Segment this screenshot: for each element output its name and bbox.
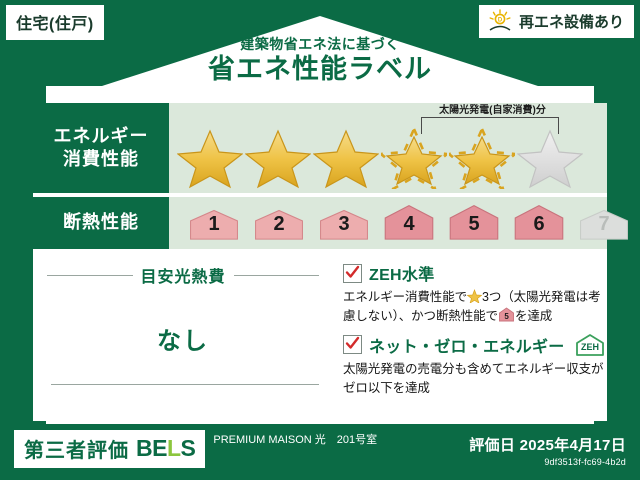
insulation-level-3: 3 xyxy=(313,207,375,240)
label-heading: 建築物省エネ法に基づく 省エネ性能ラベル xyxy=(0,36,640,85)
star-4-solar xyxy=(381,127,447,189)
bels-text-l: L xyxy=(167,435,181,461)
cert-net-zero-label: ネット・ゼロ・エネルギー xyxy=(369,333,565,357)
svg-text:ZEH: ZEH xyxy=(581,342,599,352)
label-card: エネルギー 消費性能 太陽光発電(自家消費)分 xyxy=(33,103,607,421)
utility-cost-bottom-rule xyxy=(51,384,319,385)
bels-text-be: BE xyxy=(136,435,167,461)
cert-net-zero-title-row: ネット・ゼロ・エネルギー ZEH xyxy=(343,333,608,357)
building-type-tag: 住宅(住戸) xyxy=(6,5,104,40)
insulation-level-3-label: 3 xyxy=(313,213,375,236)
insulation-level-7-label: 7 xyxy=(573,213,635,236)
cert-zeh-level-title-row: ZEH水準 xyxy=(343,261,608,285)
renewable-equipment-badge: D 再エネ設備あり xyxy=(479,5,634,38)
building-name: PREMIUM MAISON 光 201号室 xyxy=(213,434,423,448)
utility-cost-panel: 目安光熱費 なし xyxy=(33,253,333,421)
insulation-level-2-label: 2 xyxy=(248,213,310,236)
insulation-level-5: 5 xyxy=(443,203,505,240)
energy-performance-label: 住宅(住戸) D 再エネ設備あり 建築物省エネ法に基づく 省エネ性能ラベル xyxy=(0,0,640,480)
evaluation-id: 9df3513f-fc69-4b2d xyxy=(469,457,626,467)
solar-sun-icon: D xyxy=(487,9,513,33)
renewable-badge-label: 再エネ設備あり xyxy=(519,11,624,32)
insulation-level-7: 7 xyxy=(573,207,635,240)
utility-cost-title: 目安光熱費 xyxy=(141,263,226,287)
insulation-level-4: 4 xyxy=(378,203,440,240)
bels-text-s: S xyxy=(181,435,196,461)
insulation-row-title: 断熱性能 xyxy=(33,197,169,249)
insulation-level-1: 1 xyxy=(183,207,245,240)
evaluation-date: 評価日 2025年4月17日 xyxy=(469,434,626,455)
energy-title-line1: エネルギー xyxy=(54,126,149,146)
certification-panel: ZEH水準 エネルギー消費性能で3つ（太陽光発電は考慮しない）、かつ断熱性能で5… xyxy=(333,253,616,421)
energy-row-title: エネルギー 消費性能 xyxy=(33,103,169,193)
inline-star-icon xyxy=(467,289,482,303)
insulation-level-2: 2 xyxy=(248,207,310,240)
insulation-level-6-label: 6 xyxy=(508,213,570,236)
heading-title: 省エネ性能ラベル xyxy=(0,54,640,85)
insulation-performance-row: 断熱性能 1 2 3 xyxy=(33,197,607,249)
rule-left xyxy=(47,275,133,276)
cert-item-zeh-level: ZEH水準 エネルギー消費性能で3つ（太陽光発電は考慮しない）、かつ断熱性能で5… xyxy=(343,261,608,327)
cert-desc-part-1: エネルギー消費性能で xyxy=(343,290,467,304)
footer-bar: 第三者評価 BELS PREMIUM MAISON 光 201号室 評価日 20… xyxy=(0,424,640,480)
cert-zeh-level-desc: エネルギー消費性能で3つ（太陽光発電は考慮しない）、かつ断熱性能で5を達成 xyxy=(343,288,608,327)
inline-house-level-icon: 5 xyxy=(498,307,515,322)
cert-desc-part-3: を達成 xyxy=(515,309,552,323)
svg-text:5: 5 xyxy=(504,312,509,321)
insulation-level-4-label: 4 xyxy=(378,213,440,236)
solar-bracket-label: 太陽光発電(自家消費)分 xyxy=(405,101,580,116)
zeh-logo-icon: ZEH xyxy=(574,333,608,357)
star-2 xyxy=(245,127,311,189)
star-rating xyxy=(177,127,583,189)
star-5-solar xyxy=(449,127,515,189)
svg-text:D: D xyxy=(498,18,503,24)
insulation-levels: 1 2 3 4 5 xyxy=(183,203,635,240)
energy-title-line2: 消費性能 xyxy=(63,149,139,169)
star-1 xyxy=(177,127,243,189)
star-6-empty xyxy=(517,127,583,189)
insulation-level-1-label: 1 xyxy=(183,213,245,236)
insulation-row-body: 1 2 3 4 5 xyxy=(169,197,607,249)
cert-net-zero-desc: 太陽光発電の売電分も含めてエネルギー収支がゼロ以下を達成 xyxy=(343,360,608,399)
checkbox-checked-icon-2 xyxy=(343,335,362,354)
checkbox-checked-icon xyxy=(343,264,362,283)
energy-row-body: 太陽光発電(自家消費)分 xyxy=(169,103,607,193)
cert-zeh-level-label: ZEH水準 xyxy=(369,261,435,285)
bels-wordmark: BELS xyxy=(136,435,195,462)
rule-right xyxy=(234,275,320,276)
third-party-evaluation-label: 第三者評価 xyxy=(24,434,129,463)
energy-performance-row: エネルギー 消費性能 太陽光発電(自家消費)分 xyxy=(33,103,607,193)
insulation-level-5-label: 5 xyxy=(443,213,505,236)
lower-section: 目安光熱費 なし ZEH水準 エネルギー消費性能で3つ（太陽光発電は考慮しない） xyxy=(33,253,607,421)
star-3 xyxy=(313,127,379,189)
insulation-level-6: 6 xyxy=(508,203,570,240)
bels-logo: 第三者評価 BELS xyxy=(14,430,205,468)
utility-cost-value: なし xyxy=(47,321,319,356)
evaluation-info: 評価日 2025年4月17日 9df3513f-fc69-4b2d xyxy=(469,434,626,467)
cert-item-net-zero-energy: ネット・ゼロ・エネルギー ZEH 太陽光発電の売電分も含めてエネルギー収支がゼロ… xyxy=(343,333,608,399)
utility-cost-header: 目安光熱費 xyxy=(47,263,319,287)
